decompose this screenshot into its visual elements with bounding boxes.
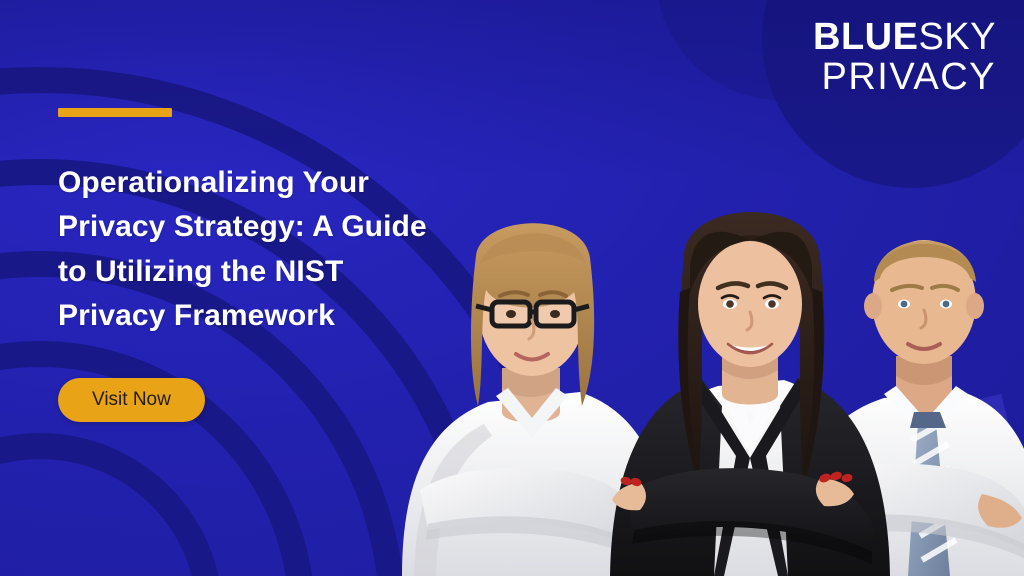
accent-bar — [58, 108, 172, 117]
headline-line-3: to Utilizing the NIST — [58, 250, 488, 294]
content-column: Operationalizing Your Privacy Strategy: … — [58, 108, 488, 422]
logo-text-blue: BLUE — [813, 16, 918, 58]
brand-logo: BLUESKY PRIVACY — [813, 18, 996, 96]
promo-banner: BLUESKY PRIVACY Operationalizing Your Pr… — [0, 0, 1024, 576]
logo-text-privacy: PRIVACY — [813, 58, 996, 96]
headline-line-4: Privacy Framework — [58, 294, 488, 338]
headline-line-2: Privacy Strategy: A Guide — [58, 205, 488, 249]
headline-line-1: Operationalizing Your — [58, 161, 488, 205]
page-title: Operationalizing Your Privacy Strategy: … — [58, 161, 488, 339]
logo-text-sky: SKY — [918, 16, 996, 58]
visit-now-button[interactable]: Visit Now — [58, 378, 205, 422]
logo-line-one: BLUESKY — [813, 18, 996, 56]
